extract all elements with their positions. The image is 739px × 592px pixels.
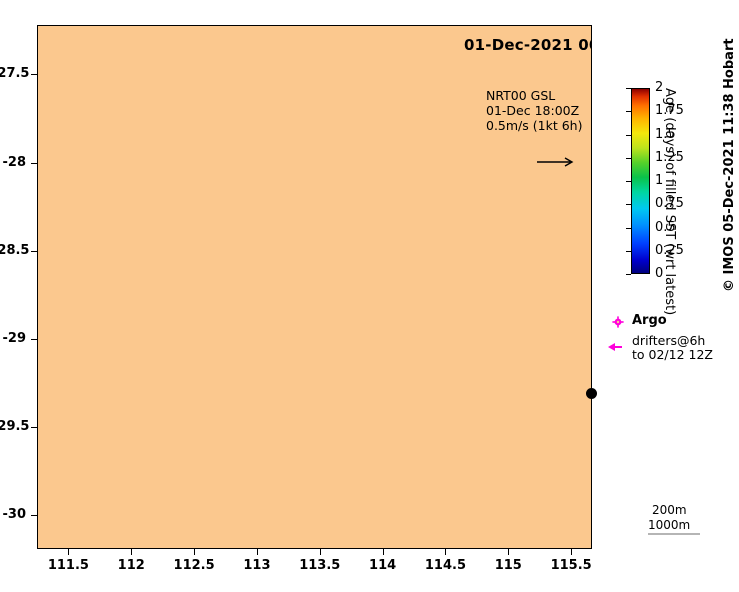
x-tick: [383, 549, 384, 555]
x-tick-label-8: 115.5: [541, 558, 601, 573]
x-tick: [131, 549, 132, 555]
colorbar-tick: [626, 135, 631, 136]
y-tick: [31, 339, 37, 340]
colorbar-tick: [626, 88, 631, 89]
colorbar-tick: [626, 158, 631, 159]
colorbar-tick: [626, 251, 631, 252]
y-tick-label-0: -27.5: [0, 66, 26, 81]
x-tick: [68, 549, 69, 555]
x-tick: [571, 549, 572, 555]
argo-marker-icon: [612, 316, 624, 328]
x-tick-label-1: 112: [101, 558, 161, 573]
annotation-line-3: 0.5m/s (1kt 6h): [486, 118, 582, 133]
x-tick: [194, 549, 195, 555]
colorbar-tick: [626, 111, 631, 112]
depth-label-200m: 200m: [652, 503, 687, 517]
y-tick: [31, 74, 37, 75]
y-tick-label-4: -29.5: [0, 419, 26, 434]
place-marker-dongara: [586, 388, 597, 399]
x-tick-label-6: 114.5: [415, 558, 475, 573]
y-tick-label-1: -28: [0, 155, 26, 170]
y-tick-label-5: -30: [0, 507, 26, 522]
y-tick: [31, 251, 37, 252]
legend-label-drifters-1: drifters@6h: [632, 334, 705, 348]
annotation-line-2: 01-Dec 18:00Z: [486, 103, 579, 118]
copyright-credit: © IMOS 05-Dec-2021 11:38 Hobart: [722, 38, 737, 292]
figure-root: 01-Dec-2021 00Z NRT00 GSL 01-Dec 18:00Z …: [0, 0, 739, 592]
x-tick-label-5: 114: [353, 558, 413, 573]
colorbar-tick: [626, 204, 631, 205]
depth-label-1000m: 1000m: [648, 518, 690, 532]
legend-label-argo: Argo: [632, 313, 667, 328]
y-tick: [31, 163, 37, 164]
x-tick-label-0: 111.5: [38, 558, 98, 573]
x-tick: [445, 549, 446, 555]
vector-scale-arrow-icon: [535, 156, 579, 168]
legend-label-drifters-2: to 02/12 12Z: [632, 348, 713, 362]
scale-rule: [648, 533, 700, 535]
x-tick-label-2: 112.5: [164, 558, 224, 573]
map-plot-area[interactable]: 01-Dec-2021 00Z NRT00 GSL 01-Dec 18:00Z …: [37, 25, 592, 549]
x-tick-label-4: 113.5: [290, 558, 350, 573]
y-tick-label-2: -28.5: [0, 243, 26, 258]
colorbar-tick: [626, 181, 631, 182]
annotation-line-1: NRT00 GSL: [486, 88, 555, 103]
drifter-marker-icon: [608, 342, 622, 352]
y-tick: [31, 427, 37, 428]
x-tick-label-3: 113: [227, 558, 287, 573]
colorbar-title: Age (days) of filled SST (wrt latest): [662, 88, 677, 274]
y-tick: [31, 515, 37, 516]
y-tick-label-3: -29: [0, 331, 26, 346]
colorbar-gradient: [631, 88, 650, 274]
x-tick: [320, 549, 321, 555]
colorbar-tick: [626, 274, 631, 275]
x-tick: [257, 549, 258, 555]
x-tick-label-7: 115: [478, 558, 538, 573]
colorbar-tick: [626, 228, 631, 229]
map-title: 01-Dec-2021 00Z: [464, 36, 592, 54]
x-tick: [508, 549, 509, 555]
